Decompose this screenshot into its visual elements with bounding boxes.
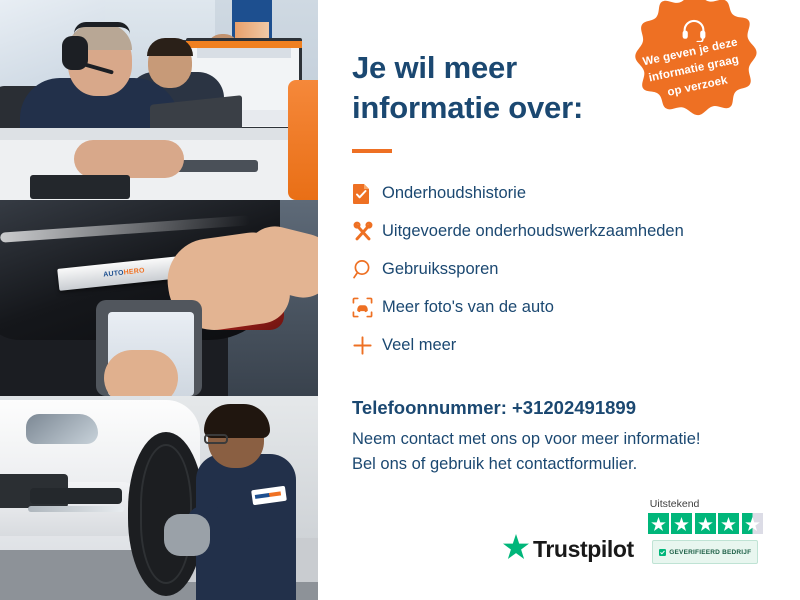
feature-label: Uitgevoerde onderhoudswerkzaamheden	[382, 222, 684, 241]
star-full	[648, 513, 669, 534]
star-full	[695, 513, 716, 534]
bumper-vent	[30, 488, 122, 504]
agent-arm	[74, 140, 184, 178]
list-item: Onderhoudshistorie	[352, 175, 800, 213]
contact-line-1: Neem contact met ons op voor meer inform…	[352, 427, 800, 453]
document-check-icon	[352, 183, 382, 205]
mechanic-wheel-photo	[0, 396, 318, 600]
magnifier-icon	[352, 259, 382, 280]
desk-tablet	[30, 175, 130, 199]
rating-label: Uitstekend	[650, 498, 700, 510]
verified-company-badge: GEVERIFIEERD BEDRIJF	[652, 540, 758, 564]
list-item: Meer foto's van de auto	[352, 289, 800, 327]
page-title: Je wil meer informatie over:	[352, 48, 652, 129]
ruler-logo-part1: AUTO	[103, 270, 124, 279]
headset-band	[74, 22, 130, 34]
request-info-badge: We geven je deze informatie graag op ver…	[617, 0, 771, 144]
chrome-trim	[28, 506, 124, 512]
feature-label: Meer foto's van de auto	[382, 298, 554, 317]
car-inspection-photo: AUTOHERO	[0, 200, 318, 396]
trustpilot-logo[interactable]: Trustpilot	[503, 534, 634, 564]
mechanic-glasses	[204, 434, 228, 444]
headline-line-1: Je wil meer	[352, 50, 517, 85]
feature-label: Veel meer	[382, 336, 456, 355]
contact-line-2: Bel ons of gebruik het contactformulier.	[352, 452, 800, 478]
inspector-hand-holding-tablet	[104, 350, 178, 396]
plus-icon	[352, 335, 382, 356]
trustpilot-wordmark: Trustpilot	[533, 536, 634, 563]
feature-label: Gebruikssporen	[382, 260, 498, 279]
mechanic-glove	[164, 514, 210, 556]
orange-equipment	[288, 80, 318, 200]
title-divider	[352, 149, 392, 153]
star-half	[742, 513, 763, 534]
mechanic-hair	[204, 404, 270, 438]
desk-edge	[0, 128, 318, 140]
list-item: Uitgevoerde onderhoudswerkzaamheden	[352, 213, 800, 251]
promo-card: AUTOHERO	[0, 0, 800, 600]
feature-label: Onderhoudshistorie	[382, 184, 526, 203]
content-panel: Je wil meer informatie over: Onderhoudsh…	[318, 0, 800, 600]
list-item: Gebruikssporen	[352, 251, 800, 289]
monitor-screen-header	[186, 41, 302, 48]
ruler-logo: AUTOHERO	[103, 267, 145, 278]
star-rating	[648, 513, 763, 534]
contact-text: Neem contact met ons op voor meer inform…	[352, 427, 800, 478]
car-headlight	[26, 414, 98, 444]
star-full	[671, 513, 692, 534]
headline-line-2: informatie over:	[352, 90, 583, 125]
list-item: Veel meer	[352, 327, 800, 365]
phone-number: Telefoonnummer: +31202491899	[352, 397, 800, 419]
verified-label: GEVERIFIEERD BEDRIJF	[669, 549, 751, 556]
star-full	[718, 513, 739, 534]
trustpilot-score-block: Uitstekend GEVERIFIEERD BEDRIJF	[648, 498, 763, 564]
feature-list: Onderhoudshistorie Uitgevoerde onderhoud…	[352, 175, 800, 365]
verified-check-icon	[659, 543, 666, 561]
car-scan-icon	[352, 297, 382, 318]
tools-icon	[352, 221, 382, 243]
photo-column: AUTOHERO	[0, 0, 318, 600]
call-center-photo	[0, 0, 318, 200]
ruler-logo-part2: HERO	[123, 267, 145, 276]
trustpilot-rating[interactable]: Trustpilot Uitstekend GEVERIFIEERD BEDRI…	[503, 498, 763, 564]
trustpilot-star-icon	[503, 534, 529, 564]
